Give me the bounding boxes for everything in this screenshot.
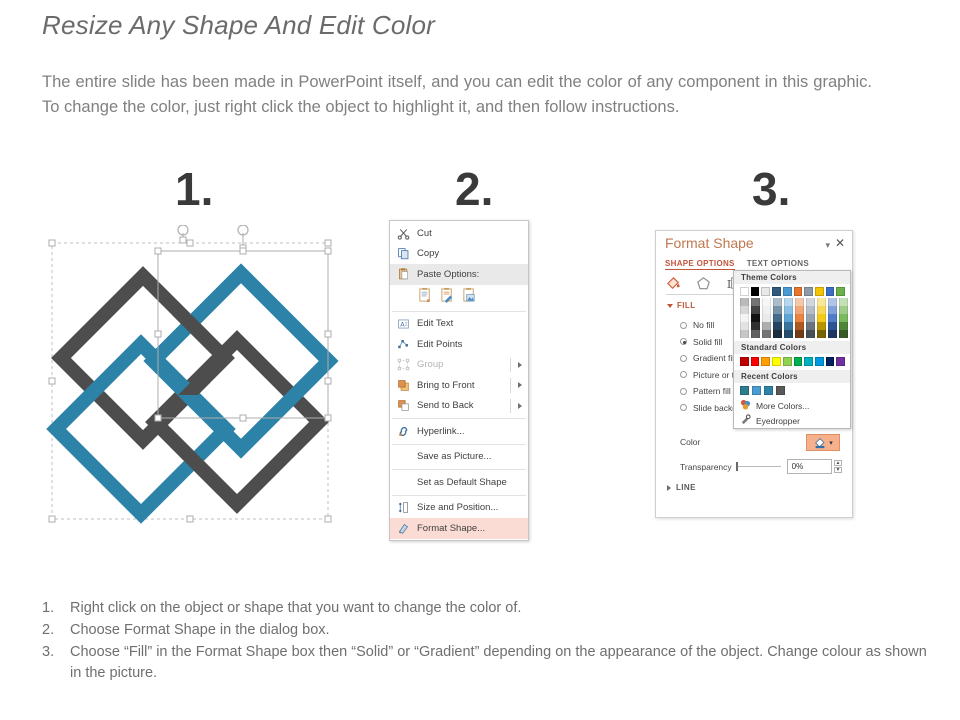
menu-divider	[392, 444, 526, 445]
menu-label: Hyperlink...	[417, 426, 465, 437]
menu-item-edit-text[interactable]: A Edit Text	[390, 314, 528, 335]
menu-item-size-and-position[interactable]: Size and Position...	[390, 498, 528, 519]
transparency-stepper[interactable]: ▲ ▼	[834, 460, 842, 473]
paste-keep-source-formatting-icon[interactable]: a	[418, 287, 433, 306]
menu-item-edit-points[interactable]: Edit Points	[390, 334, 528, 355]
submenu-separator	[510, 378, 511, 393]
theme-color-variant[interactable]	[795, 298, 804, 306]
menu-label: Send to Back	[417, 400, 474, 411]
svg-text:a: a	[426, 298, 429, 303]
theme-color-variant[interactable]	[806, 330, 815, 338]
theme-color-swatch-8[interactable]	[826, 287, 835, 296]
standard-color-swatch-9[interactable]	[836, 357, 845, 366]
theme-color-variant[interactable]	[795, 306, 804, 314]
theme-color-swatch-9[interactable]	[836, 287, 845, 296]
menu-item-paste-options[interactable]: Paste Options:	[390, 264, 528, 285]
theme-color-variant[interactable]	[740, 306, 749, 314]
hyperlink-icon	[395, 423, 412, 439]
menu-divider	[392, 311, 526, 312]
submenu-separator	[510, 358, 511, 373]
radio-indicator	[680, 338, 687, 345]
bring-to-front-icon	[395, 377, 412, 393]
theme-color-variant[interactable]	[773, 322, 782, 330]
instruction-text: Choose “Fill” in the Format Shape box th…	[70, 642, 942, 684]
svg-text:I: I	[727, 277, 731, 291]
theme-color-variant[interactable]	[784, 298, 793, 306]
radio-indicator	[680, 388, 687, 395]
instruction-number: 1.	[42, 598, 70, 619]
theme-color-variants-2[interactable]	[762, 298, 771, 338]
menu-item-send-to-back[interactable]: Send to Back	[390, 396, 528, 417]
group-icon	[395, 357, 412, 373]
instruction-item: 1. Right click on the object or shape th…	[42, 598, 942, 619]
radio-indicator	[680, 355, 687, 362]
recent-color-swatch-0[interactable]	[740, 386, 749, 395]
shape-illustration[interactable]	[40, 225, 340, 525]
theme-color-variant[interactable]	[806, 298, 815, 306]
theme-color-variant[interactable]	[828, 330, 837, 338]
eyedropper-label: Eyedropper	[756, 416, 800, 426]
recent-color-swatch-2[interactable]	[764, 386, 773, 395]
theme-color-variant[interactable]	[828, 298, 837, 306]
theme-color-swatch-0[interactable]	[740, 287, 749, 296]
standard-color-swatch-3[interactable]	[772, 357, 781, 366]
instruction-number: 3.	[42, 642, 70, 684]
theme-color-variants-4[interactable]	[784, 298, 793, 338]
fill-bucket-icon	[813, 436, 827, 449]
theme-color-variants-9[interactable]	[839, 298, 848, 338]
theme-color-variant[interactable]	[784, 306, 793, 314]
theme-color-variant[interactable]	[773, 306, 782, 314]
scissors-icon	[395, 225, 412, 241]
standard-color-swatch-5[interactable]	[794, 357, 803, 366]
theme-colors-variant-rows[interactable]	[740, 298, 845, 338]
theme-color-variant[interactable]	[740, 330, 749, 338]
step-number-2: 2.	[455, 166, 493, 212]
standard-color-swatch-8[interactable]	[826, 357, 835, 366]
radio-indicator	[680, 371, 687, 378]
instruction-text: Right click on the object or shape that …	[70, 598, 942, 619]
menu-item-hyperlink[interactable]: Hyperlink...	[390, 421, 528, 442]
menu-label: Set as Default Shape	[417, 477, 507, 488]
stepper-up-icon[interactable]: ▲	[834, 460, 842, 466]
clipboard-icon	[395, 266, 412, 282]
recent-colors-label: Recent Colors	[734, 370, 850, 383]
theme-color-swatch-4[interactable]	[783, 287, 792, 296]
transparency-label: Transparency	[680, 462, 732, 472]
line-section-label: LINE	[676, 483, 696, 492]
instructions-list: 1. Right click on the object or shape th…	[42, 598, 942, 685]
menu-item-format-shape[interactable]: Format Shape...	[390, 518, 528, 539]
edit-text-icon: A	[395, 316, 412, 332]
eyedropper-action[interactable]: Eyedropper	[734, 413, 850, 428]
theme-color-swatch-5[interactable]	[794, 287, 803, 296]
triangle-right-icon	[667, 485, 671, 491]
menu-divider	[392, 418, 526, 419]
context-menu[interactable]: Cut Copy Paste Options: a A Edit Text	[389, 220, 529, 541]
instruction-item: 2. Choose Format Shape in the dialog box…	[42, 620, 942, 641]
theme-color-variant[interactable]	[773, 314, 782, 322]
radio-label: No fill	[693, 320, 714, 330]
theme-color-variant[interactable]	[828, 322, 837, 330]
theme-color-variant[interactable]	[817, 330, 826, 338]
menu-label: Size and Position...	[417, 502, 498, 513]
color-swatch-button[interactable]: ▾	[806, 434, 840, 451]
no-icon	[395, 474, 412, 490]
standard-color-swatch-7[interactable]	[815, 357, 824, 366]
theme-color-variant[interactable]	[839, 314, 848, 322]
theme-color-variant[interactable]	[773, 330, 782, 338]
transparency-slider[interactable]	[736, 466, 781, 467]
radio-label: Pattern fill	[693, 386, 731, 396]
chevron-down-icon[interactable]: ▾	[825, 240, 830, 251]
format-shape-titlebar: Format Shape ▾ ✕	[656, 231, 852, 257]
theme-color-swatch-3[interactable]	[772, 287, 781, 296]
more-colors-action[interactable]: More Colors...	[734, 398, 850, 413]
radio-indicator	[680, 404, 687, 411]
menu-item-save-as-picture[interactable]: Save as Picture...	[390, 447, 528, 468]
theme-colors-grid[interactable]	[734, 284, 850, 341]
theme-color-variant[interactable]	[806, 306, 815, 314]
menu-divider	[392, 469, 526, 470]
chevron-right-icon	[518, 382, 522, 388]
page-subtitle: The entire slide has been made in PowerP…	[42, 70, 872, 120]
theme-color-variant[interactable]	[762, 306, 771, 314]
line-section-header[interactable]: LINE	[667, 483, 696, 492]
standard-color-swatch-0[interactable]	[740, 357, 749, 366]
menu-label: Save as Picture...	[417, 451, 491, 462]
theme-color-swatch-6[interactable]	[804, 287, 813, 296]
menu-label: Edit Text	[417, 318, 453, 329]
theme-color-variant[interactable]	[751, 314, 760, 322]
theme-color-swatch-1[interactable]	[751, 287, 760, 296]
theme-color-swatch-2[interactable]	[761, 287, 770, 296]
theme-color-variant[interactable]	[751, 330, 760, 338]
copy-icon	[395, 246, 412, 262]
theme-color-variants-8[interactable]	[828, 298, 837, 338]
step-number-1: 1.	[175, 166, 213, 212]
instruction-number: 2.	[42, 620, 70, 641]
chevron-right-icon	[518, 403, 522, 409]
theme-colors-label: Theme Colors	[734, 271, 850, 284]
format-shape-title: Format Shape	[665, 235, 754, 251]
recent-color-swatch-3[interactable]	[776, 386, 785, 395]
standard-color-swatch-6[interactable]	[804, 357, 813, 366]
menu-label: Paste Options:	[417, 269, 479, 280]
theme-color-variant[interactable]	[839, 298, 848, 306]
theme-color-variant[interactable]	[762, 314, 771, 322]
theme-color-variant[interactable]	[817, 306, 826, 314]
recent-color-swatch-1[interactable]	[752, 386, 761, 395]
transparency-value-input[interactable]: 0%	[787, 459, 832, 474]
edit-points-icon	[395, 336, 412, 352]
no-icon	[395, 449, 412, 465]
theme-color-variant[interactable]	[740, 322, 749, 330]
menu-item-bring-to-front[interactable]: Bring to Front	[390, 375, 528, 396]
theme-color-variant[interactable]	[740, 314, 749, 322]
color-picker-flyout[interactable]: Theme Colors Standard Colors Recent Colo…	[733, 270, 851, 429]
theme-color-variant[interactable]	[795, 322, 804, 330]
theme-color-variant[interactable]	[839, 306, 848, 314]
theme-color-variants-5[interactable]	[795, 298, 804, 338]
theme-color-variant[interactable]	[762, 330, 771, 338]
tab-text-options[interactable]: TEXT OPTIONS	[747, 259, 809, 270]
theme-color-variant[interactable]	[828, 306, 837, 314]
standard-colors-grid[interactable]	[734, 354, 850, 370]
format-shape-tabs[interactable]: SHAPE OPTIONS TEXT OPTIONS	[665, 259, 809, 270]
step-number-3: 3.	[752, 166, 790, 212]
menu-divider	[392, 495, 526, 496]
theme-color-variants-3[interactable]	[773, 298, 782, 338]
menu-item-cut[interactable]: Cut	[390, 223, 528, 244]
active-icon-indicator	[671, 290, 679, 294]
theme-color-variant[interactable]	[762, 298, 771, 306]
menu-item-copy[interactable]: Copy	[390, 244, 528, 265]
menu-label: Copy	[417, 248, 439, 259]
theme-colors-base-row[interactable]	[740, 287, 845, 296]
color-row[interactable]: Color ▾	[680, 437, 842, 447]
theme-color-variant[interactable]	[751, 306, 760, 314]
menu-label: Format Shape...	[417, 523, 485, 534]
menu-label: Cut	[417, 228, 432, 239]
page-title: Resize Any Shape And Edit Color	[42, 10, 435, 41]
theme-color-variant[interactable]	[751, 322, 760, 330]
theme-color-variant[interactable]	[784, 314, 793, 322]
svg-text:A: A	[400, 320, 405, 328]
chevron-down-icon[interactable]: ▾	[829, 439, 833, 447]
close-icon[interactable]: ✕	[835, 236, 845, 250]
theme-color-variant[interactable]	[795, 314, 804, 322]
fill-section-header[interactable]: FILL	[667, 301, 695, 310]
menu-item-group[interactable]: Group	[390, 355, 528, 376]
theme-color-variant[interactable]	[817, 314, 826, 322]
menu-label: Group	[417, 359, 443, 370]
tab-shape-options[interactable]: SHAPE OPTIONS	[665, 259, 735, 270]
theme-color-variant[interactable]	[839, 330, 848, 338]
eyedropper-icon	[740, 414, 751, 427]
theme-color-variant[interactable]	[839, 322, 848, 330]
standard-color-swatch-2[interactable]	[761, 357, 770, 366]
submenu-separator	[510, 399, 511, 414]
theme-color-variant[interactable]	[784, 322, 793, 330]
theme-color-variant[interactable]	[773, 298, 782, 306]
effects-pentagon-icon[interactable]	[695, 275, 712, 294]
paste-options-row[interactable]: a	[390, 285, 528, 309]
paste-picture-icon[interactable]	[462, 287, 477, 306]
theme-color-variant[interactable]	[806, 314, 815, 322]
standard-color-swatch-1[interactable]	[751, 357, 760, 366]
theme-color-variant[interactable]	[817, 298, 826, 306]
more-colors-icon	[740, 399, 751, 412]
radio-indicator	[680, 322, 687, 329]
theme-color-variant[interactable]	[795, 330, 804, 338]
slider-thumb[interactable]	[736, 462, 738, 471]
theme-color-variants-6[interactable]	[806, 298, 815, 338]
paste-keep-text-only-icon[interactable]	[440, 287, 455, 306]
radio-label: Solid fill	[693, 337, 722, 347]
menu-item-set-as-default-shape[interactable]: Set as Default Shape	[390, 472, 528, 493]
transparency-row[interactable]: Transparency 0% ▲ ▼	[680, 459, 842, 474]
theme-color-variant[interactable]	[762, 322, 771, 330]
theme-color-variant[interactable]	[817, 322, 826, 330]
theme-color-variants-1[interactable]	[751, 298, 760, 338]
fill-section-label: FILL	[677, 301, 695, 310]
chevron-right-icon	[518, 362, 522, 368]
theme-color-variant[interactable]	[784, 330, 793, 338]
instruction-text: Choose Format Shape in the dialog box.	[70, 620, 942, 641]
color-label: Color	[680, 437, 700, 447]
standard-color-swatch-4[interactable]	[783, 357, 792, 366]
size-position-icon	[395, 500, 412, 516]
radio-label: Gradient fill	[693, 353, 736, 363]
recent-colors-grid[interactable]	[734, 383, 850, 398]
theme-color-variant[interactable]	[751, 298, 760, 306]
theme-color-variant[interactable]	[828, 314, 837, 322]
standard-colors-label: Standard Colors	[734, 341, 850, 354]
theme-color-swatch-7[interactable]	[815, 287, 824, 296]
send-to-back-icon	[395, 398, 412, 414]
theme-color-variant[interactable]	[806, 322, 815, 330]
triangle-down-icon	[667, 304, 673, 308]
theme-color-variant[interactable]	[740, 298, 749, 306]
format-shape-icon	[395, 520, 412, 536]
instruction-item: 3. Choose “Fill” in the Format Shape box…	[42, 642, 942, 684]
menu-label: Bring to Front	[417, 380, 475, 391]
theme-color-variants-7[interactable]	[817, 298, 826, 338]
stepper-down-icon[interactable]: ▼	[834, 467, 842, 473]
more-colors-label: More Colors...	[756, 401, 809, 411]
menu-label: Edit Points	[417, 339, 462, 350]
theme-color-variants-0[interactable]	[740, 298, 749, 338]
